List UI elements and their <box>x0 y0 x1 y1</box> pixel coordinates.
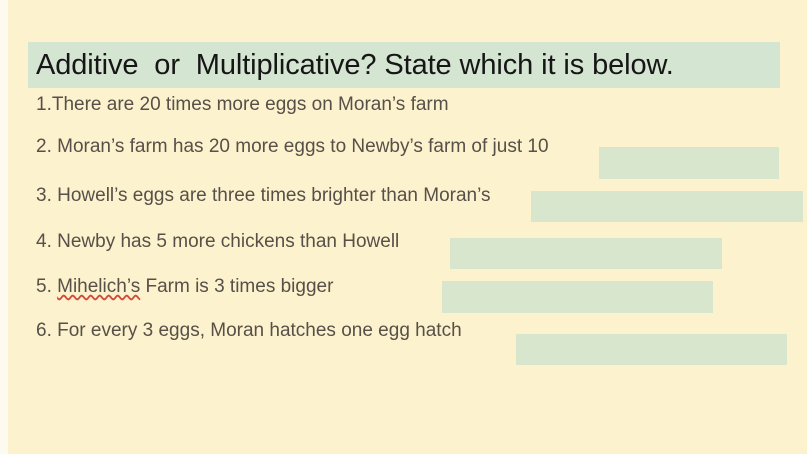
question-item-6[interactable]: 6. For every 3 eggs, Moran hatches one e… <box>36 320 462 342</box>
question-number-5: 5. <box>36 276 57 297</box>
question-text-4: Newby has 5 more chickens than Howell <box>57 231 399 252</box>
answer-box-3[interactable] <box>531 191 803 222</box>
answer-box-4[interactable] <box>450 238 722 269</box>
slide-canvas: Additive or Multiplicative? State which … <box>0 0 807 454</box>
question-text-3: Howell’s eggs are three times brighter t… <box>57 185 490 206</box>
question-item-1[interactable]: 1.There are 20 times more eggs on Moran’… <box>36 94 449 116</box>
question-item-5[interactable]: 5. Mihelich’s Farm is 3 times bigger <box>36 276 333 298</box>
question-text-5: Farm is 3 times bigger <box>140 276 333 297</box>
question-number-1: 1. <box>36 94 52 115</box>
question-item-3[interactable]: 3. Howell’s eggs are three times brighte… <box>36 185 490 207</box>
question-number-3: 3. <box>36 185 57 206</box>
question-item-2[interactable]: 2. Moran’s farm has 20 more eggs to Newb… <box>36 136 549 158</box>
answer-box-6[interactable] <box>516 334 787 365</box>
question-number-2: 2. <box>36 136 57 157</box>
misspelled-word-5[interactable]: Mihelich’s <box>57 276 140 297</box>
question-text-6: For every 3 eggs, Moran hatches one egg … <box>57 320 462 341</box>
question-number-6: 6. <box>36 320 57 341</box>
question-item-4[interactable]: 4. Newby has 5 more chickens than Howell <box>36 231 399 253</box>
question-number-4: 4. <box>36 231 57 252</box>
page-title: Additive or Multiplicative? State which … <box>36 42 780 88</box>
question-text-1: There are 20 times more eggs on Moran’s … <box>52 94 449 115</box>
answer-box-2[interactable] <box>599 147 779 179</box>
answer-box-5[interactable] <box>442 281 713 313</box>
left-margin-strip <box>0 0 8 454</box>
question-text-2: Moran’s farm has 20 more eggs to Newby’s… <box>57 136 548 157</box>
